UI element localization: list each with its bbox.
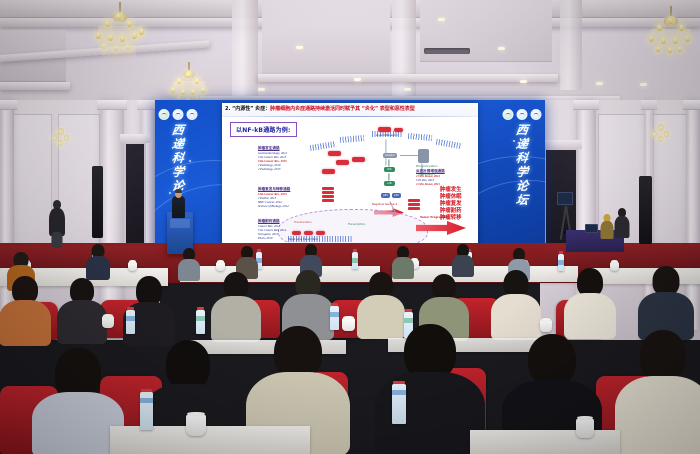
logo-green-circle-icon [159, 109, 170, 120]
forum-char: 科 [515, 152, 528, 164]
forum-title-vertical-right: 西 递 科 学 论 坛 [499, 124, 545, 206]
tea-cup [102, 316, 114, 328]
citation-heading: 肿瘤复发与转移通路 [258, 187, 322, 191]
audience-member-foreground [620, 330, 700, 454]
pathway-node-ikb: IκB [384, 181, 395, 186]
tumor-outcomes-list: 肿瘤发生 肿瘤休眠 肿瘤复发 肿瘤耐药 肿瘤转移 [440, 187, 462, 222]
logo-wave-circle-icon [173, 109, 184, 120]
forum-char: 西 [515, 124, 528, 136]
audience-member [566, 268, 614, 332]
water-bottle [558, 254, 564, 271]
av-technician [614, 208, 630, 238]
pathway-label: Phosphorylation [416, 165, 438, 168]
audience-member [0, 276, 50, 338]
pathway-label: Negative feedback [372, 203, 397, 206]
logo-blue-circle-icon [187, 109, 198, 120]
audience-member [178, 248, 200, 280]
tea-cup [128, 262, 137, 271]
conference-photo: 西 递 科 学 论 西 递 科 学 论 坛 [0, 0, 700, 454]
tea-cup [576, 418, 594, 438]
chandelier-right [646, 6, 696, 62]
forum-char: 递 [515, 138, 528, 150]
chandelier-left [92, 2, 148, 64]
tea-cup [186, 414, 206, 436]
forum-char: 科 [171, 152, 184, 164]
water-bottle [352, 252, 358, 269]
audience-member [86, 244, 110, 278]
audience-member [284, 270, 332, 332]
logo-wave-circle-icon [517, 109, 528, 120]
citation-item: PLoS, 2010 [258, 236, 320, 240]
audience-member [58, 278, 106, 338]
tea-cup [540, 320, 552, 332]
presenter-body [172, 196, 185, 218]
slide-subtitle-box: 以NF-kB通路为例: [230, 122, 297, 137]
gene-stack [408, 199, 420, 210]
pathway-node-p65: p65 [381, 193, 390, 198]
control-laptop [585, 224, 598, 233]
citation-item: J Clin Invest, 2011 [416, 182, 474, 186]
outcome-item: 肿瘤转移 [440, 215, 462, 222]
citation-group: 肿瘤耐药通路 Cancer Res, 2011 Clin Cancer Res,… [258, 219, 320, 240]
slide-title-quote: “内源性” [232, 106, 253, 112]
citation-heading: 肿瘤耐药通路 [258, 219, 320, 223]
slide-title: 2. “内源性” 炎症：肿瘤细胞内炎症通路持续激活同时赋予其 “炎化” 表型和恶… [222, 103, 478, 116]
water-bottle [126, 310, 135, 334]
water-bottle [196, 310, 205, 334]
forum-char: 学 [171, 166, 184, 178]
audience-member [212, 272, 260, 334]
tea-cup [216, 262, 225, 271]
title-divider [222, 116, 478, 117]
table-row [180, 266, 380, 282]
forum-char: 西 [171, 124, 184, 136]
seated-staff [600, 214, 614, 238]
audience-member [452, 244, 474, 276]
speaker-tower-left [92, 166, 103, 238]
logo-blue-circle-icon [531, 109, 542, 120]
pathway-node-p50: p50 [392, 193, 401, 198]
forum-char: 坛 [515, 194, 528, 206]
stage-monitor [557, 192, 573, 205]
citation-item: Science of Biology, 2014 [258, 204, 322, 208]
citation-group: 炎症反馈增强通路 J Clin Invest, 2012 Cell Res, 2… [416, 169, 474, 186]
forum-logos [159, 109, 198, 120]
backdrop-banner-right: 西 递 科 学 论 坛 [499, 100, 545, 255]
ceiling-vent [424, 48, 470, 54]
forum-char: 论 [515, 180, 528, 192]
slide-title-emphasis: 肿瘤细胞内炎症通路持续激活同时赋予其 “炎化” 表型和恶性表型 [270, 106, 415, 112]
citation-group: 肿瘤发生通路 Gastroenterology, 2012 Clin Cance… [258, 146, 320, 172]
slide-title-prefix: 2. [225, 106, 232, 112]
pathway-label: Ligand/Receptor [376, 134, 398, 137]
receptor-complex [378, 127, 391, 132]
table-row-foreground [470, 430, 620, 454]
audience-member-foreground [36, 348, 120, 454]
presentation-slide: 2. “内源性” 炎症：肿瘤细胞内炎症通路持续激活同时赋予其 “炎化” 表型和恶… [222, 103, 478, 251]
forum-logos [503, 109, 542, 120]
citation-heading: 炎症反馈增强通路 [416, 169, 474, 173]
citation-heading: 肿瘤发生通路 [258, 146, 320, 150]
forum-char: 学 [515, 166, 528, 178]
water-bottle [392, 384, 406, 424]
citation-item: J Pathology, 2013 [258, 167, 320, 171]
slide-title-mid: 炎症： [253, 106, 270, 112]
logo-green-circle-icon [503, 109, 514, 120]
citation-group: 肿瘤复发与转移通路 Clin Cancer Res, 2013 J Pathol… [258, 187, 322, 208]
audience-member [492, 270, 540, 332]
gene-stack [322, 187, 334, 202]
audience-member [358, 272, 404, 332]
audience-member [640, 266, 692, 332]
wall-sconce-icon [652, 124, 670, 144]
speaker-tower-right [639, 176, 652, 244]
water-bottle [140, 392, 153, 430]
videographer [48, 200, 66, 246]
forum-char: 递 [171, 138, 184, 150]
presenter-hair [175, 189, 182, 193]
pathway-node-adaptor: Adaptor Complex [383, 153, 397, 158]
forum-title-vertical-left: 西 递 科 学 论 [155, 124, 201, 192]
pathway-label: Transcription [348, 223, 365, 226]
table-row-foreground [110, 426, 310, 454]
wall-sconce-icon [52, 128, 70, 148]
pathway-node-ikk: IKK [384, 167, 395, 172]
